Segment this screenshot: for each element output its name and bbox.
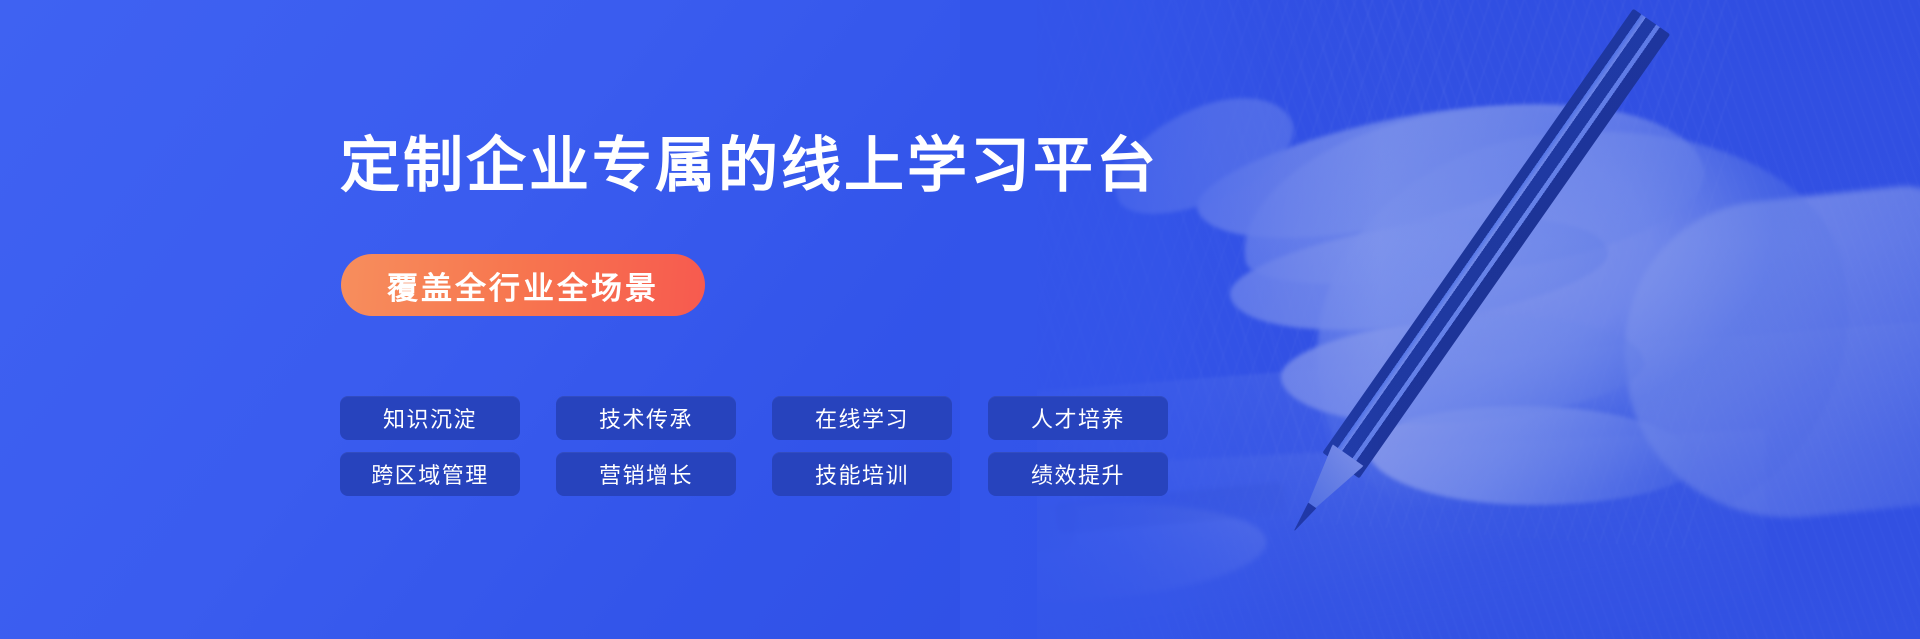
feature-tag-technical-inheritance[interactable]: 技术传承 — [556, 396, 736, 440]
feature-tag-marketing-growth[interactable]: 营销增长 — [556, 452, 736, 496]
feature-tag-cross-region-management[interactable]: 跨区域管理 — [340, 452, 520, 496]
feature-tag-skills-training[interactable]: 技能培训 — [772, 452, 952, 496]
coverage-cta-button[interactable]: 覆盖全行业全场景 — [341, 254, 705, 316]
feature-tag-online-learning[interactable]: 在线学习 — [772, 396, 952, 440]
feature-tag-knowledge-precipitation[interactable]: 知识沉淀 — [340, 396, 520, 440]
page-title: 定制企业专属的线上学习平台 — [340, 136, 1159, 196]
hero-banner: 定制企业专属的线上学习平台 覆盖全行业全场景 知识沉淀 技术传承 在线学习 人才… — [0, 0, 1920, 639]
feature-tag-grid: 知识沉淀 技术传承 在线学习 人才培养 跨区域管理 营销增长 技能培训 绩效提升 — [340, 396, 1168, 496]
feature-tag-talent-development[interactable]: 人才培养 — [988, 396, 1168, 440]
banner-content: 定制企业专属的线上学习平台 覆盖全行业全场景 知识沉淀 技术传承 在线学习 人才… — [340, 0, 1240, 639]
feature-tag-performance-improvement[interactable]: 绩效提升 — [988, 452, 1168, 496]
